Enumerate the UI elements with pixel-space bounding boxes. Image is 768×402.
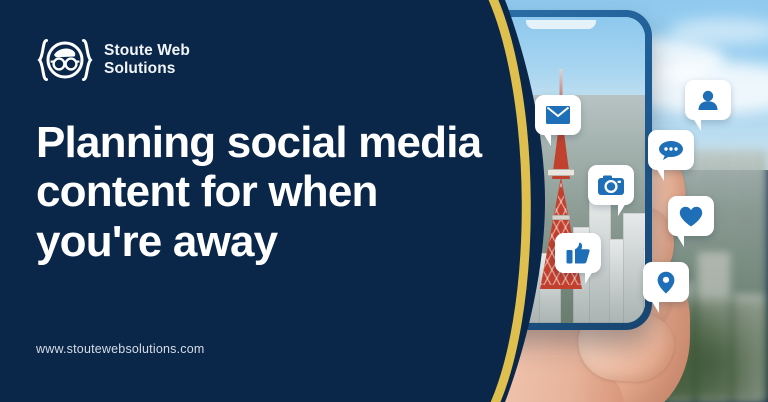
camera-icon [598,175,624,195]
location-bubble [643,262,689,302]
map-pin-icon [657,271,675,294]
chat-bubble [648,130,694,170]
heart-bubble [668,196,714,236]
heart-icon [679,206,703,227]
chat-bubble-dots-icon [658,140,684,160]
person-icon [697,90,719,110]
mail-icon [546,106,570,124]
blog-banner: Stoute Web Solutions Planning social med… [0,0,768,402]
person-bubble [685,80,731,120]
camera-bubble [588,165,634,205]
social-icon-bubbles [0,0,768,402]
thumbs-up-bubble [555,233,601,273]
mail-bubble [535,95,581,135]
thumbs-up-icon [566,242,590,264]
